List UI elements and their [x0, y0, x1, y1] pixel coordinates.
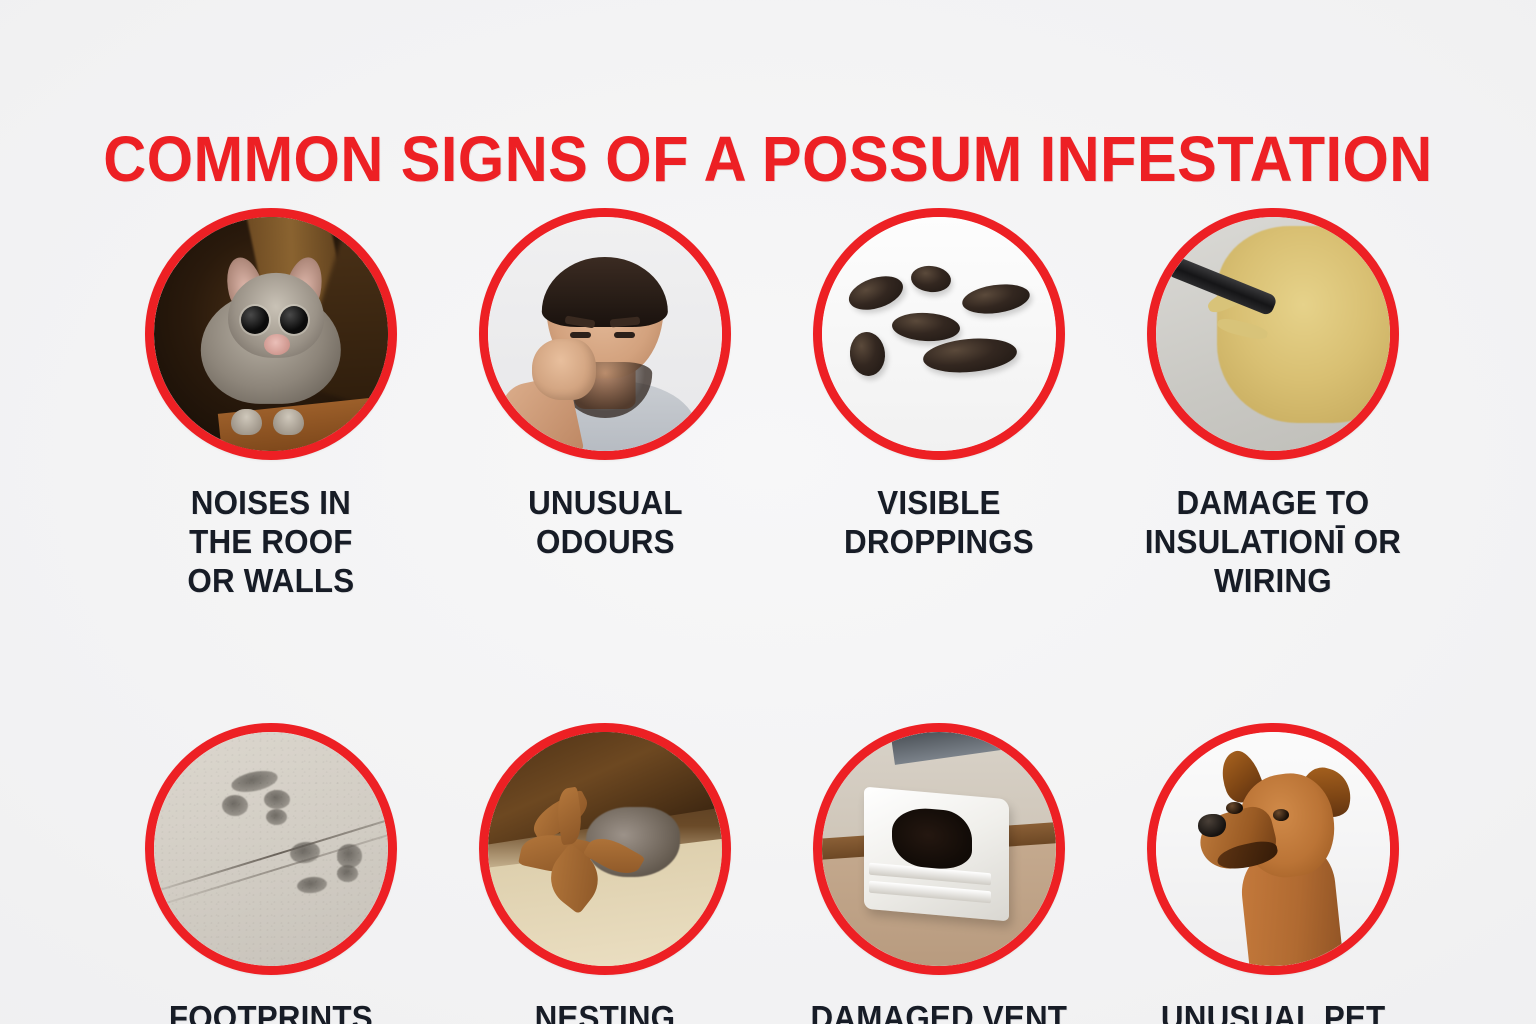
possum-left-paw-shape [231, 409, 261, 435]
dog-right-eye-shape [1273, 809, 1289, 821]
sign-image-circle [479, 208, 731, 460]
dropping-shape [961, 280, 1032, 317]
sign-card-footprints: FOOTPRINTS OR TAIL MARKS [104, 723, 438, 1024]
hand-pinching-nose-shape [532, 339, 595, 400]
right-eye-shape [614, 332, 635, 338]
possum-left-eye-shape [241, 306, 269, 334]
paw-print-shape [337, 844, 363, 867]
left-eye-shape [570, 332, 591, 338]
possum-right-paw-shape [273, 409, 303, 435]
dropping-shape [910, 264, 952, 294]
sign-card-pet-behaviour: UNUSUAL PET BEHAVIOUR [1106, 723, 1440, 1024]
sign-caption: DAMAGED VENT COVERS OR ROOLF [784, 999, 1093, 1024]
alert-dog-photo [1156, 732, 1390, 966]
hair-shape [542, 257, 668, 327]
signs-grid: NOISES IN THE ROOF OR WALLS [104, 208, 1440, 1024]
concrete-crack-shape [154, 825, 388, 912]
sign-card-vent: DAMAGED VENT COVERS OR ROOLF [772, 723, 1106, 1024]
concrete-crack-shape [154, 811, 388, 898]
paw-print-shape [288, 840, 321, 865]
sign-caption: NOISES IN THE ROOF OR WALLS [188, 484, 355, 601]
sign-card-nesting: NESTING MATERIALS [438, 723, 772, 1024]
nesting-materials-photo [488, 732, 722, 966]
dog-left-eye-shape [1226, 802, 1242, 814]
sign-card-insulation: DAMAGE TO INSULATIONĪ OR WIRING [1106, 208, 1440, 601]
sign-image-circle [145, 723, 397, 975]
footprints-on-concrete-photo [154, 732, 388, 966]
sign-caption: NESTING MATERIALS [514, 999, 696, 1024]
possum-in-roof-photo [154, 217, 388, 451]
dropping-shape [848, 330, 888, 378]
page-title: COMMON SIGNS OF A POSSUM INFESTATION [54, 127, 1482, 191]
sign-caption: UNUSUAL PET BEHAVIOUR [1161, 999, 1385, 1024]
sign-card-noises: NOISES IN THE ROOF OR WALLS [104, 208, 438, 601]
dropping-shape [844, 270, 907, 316]
paw-print-shape [296, 875, 328, 894]
paw-print-shape [230, 767, 280, 795]
damaged-vent-cover-photo [822, 732, 1056, 966]
paw-print-shape [337, 865, 358, 881]
damaged-insulation-photo [1156, 217, 1390, 451]
sign-caption: UNUSUAL ODOURS [528, 484, 683, 562]
man-pinching-nose-photo [488, 217, 722, 451]
sign-image-circle [479, 723, 731, 975]
dropping-shape [891, 311, 960, 343]
sign-image-circle [813, 208, 1065, 460]
sign-caption: DAMAGE TO INSULATIONĪ OR WIRING [1145, 484, 1401, 601]
sign-caption: FOOTPRINTS OR TAIL MARKS [147, 999, 396, 1024]
paw-print-shape [222, 795, 248, 816]
sign-caption: VISIBLE DROPPINGS [844, 484, 1034, 562]
sign-card-odours: UNUSUAL ODOURS [438, 208, 772, 601]
sign-image-circle [1147, 208, 1399, 460]
sign-card-droppings: VISIBLE DROPPINGS [772, 208, 1106, 601]
paw-print-shape [266, 809, 287, 825]
infographic-poster: COMMON SIGNS OF A POSSUM INFESTATION [0, 0, 1536, 1024]
sign-image-circle [145, 208, 397, 460]
sign-image-circle [1147, 723, 1399, 975]
sign-image-circle [813, 723, 1065, 975]
paw-print-shape [264, 790, 290, 809]
possum-droppings-photo [822, 217, 1056, 451]
possum-snout-shape [264, 334, 290, 355]
